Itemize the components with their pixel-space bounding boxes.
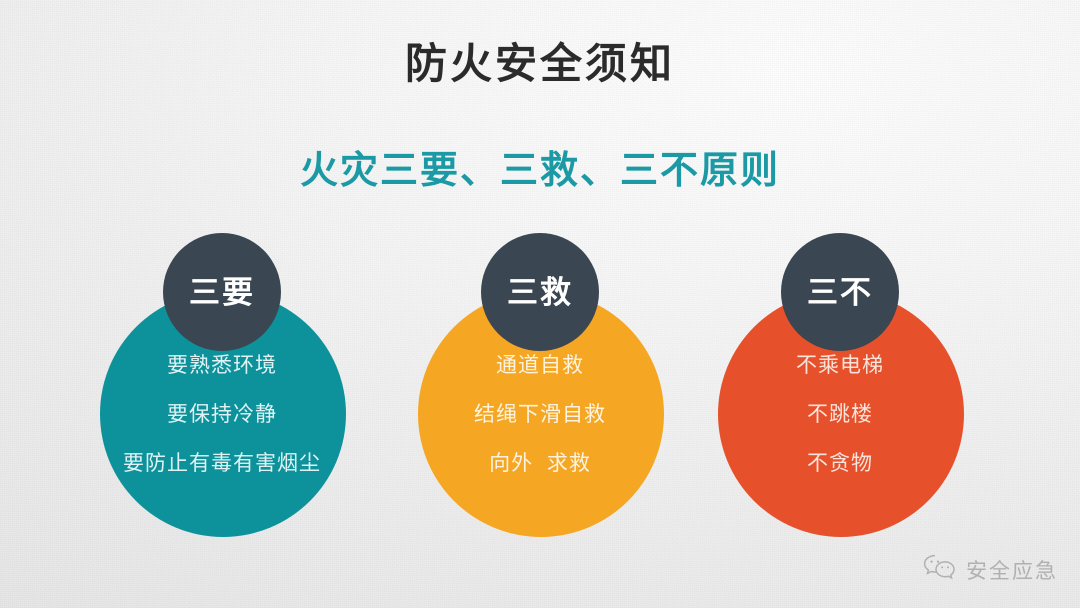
principle-line: 不贪物 bbox=[690, 453, 990, 474]
slide-canvas: 防火安全须知 火灾三要、三救、三不原则 三要 要熟悉环境 要保持冷静 要防止有毒… bbox=[0, 0, 1080, 608]
principle-line-list: 要熟悉环境 要保持冷静 要防止有毒有害烟尘 bbox=[72, 355, 372, 474]
principle-line: 通道自救 bbox=[390, 355, 690, 376]
principle-group-san-jiu: 三救 通道自救 结绳下滑自救 向外 求救 bbox=[390, 233, 690, 563]
principle-group-san-yao: 三要 要熟悉环境 要保持冷静 要防止有毒有害烟尘 bbox=[72, 233, 372, 563]
principle-badge-label: 三救 bbox=[507, 277, 573, 308]
principle-badge-label: 三不 bbox=[807, 277, 873, 308]
principle-line: 向外 求救 bbox=[390, 453, 690, 474]
principle-line: 结绳下滑自救 bbox=[390, 404, 690, 425]
principle-badge-label: 三要 bbox=[189, 277, 255, 308]
principle-badge: 三不 bbox=[781, 233, 899, 351]
watermark-text: 安全应急 bbox=[966, 555, 1058, 585]
principle-line: 要熟悉环境 bbox=[72, 355, 372, 376]
page-title: 防火安全须知 bbox=[0, 30, 1080, 91]
principle-line: 不跳楼 bbox=[690, 404, 990, 425]
principle-line: 不乘电梯 bbox=[690, 355, 990, 376]
watermark: 安全应急 bbox=[923, 553, 1058, 586]
principle-line-list: 不乘电梯 不跳楼 不贪物 bbox=[690, 355, 990, 474]
principle-line: 要防止有毒有害烟尘 bbox=[72, 453, 372, 474]
wechat-icon bbox=[923, 553, 957, 586]
page-subtitle: 火灾三要、三救、三不原则 bbox=[0, 139, 1080, 194]
principle-line: 要保持冷静 bbox=[72, 404, 372, 425]
principle-group-san-bu: 三不 不乘电梯 不跳楼 不贪物 bbox=[690, 233, 990, 563]
principle-line-list: 通道自救 结绳下滑自救 向外 求救 bbox=[390, 355, 690, 474]
principle-badge: 三要 bbox=[163, 233, 281, 351]
principle-badge: 三救 bbox=[481, 233, 599, 351]
